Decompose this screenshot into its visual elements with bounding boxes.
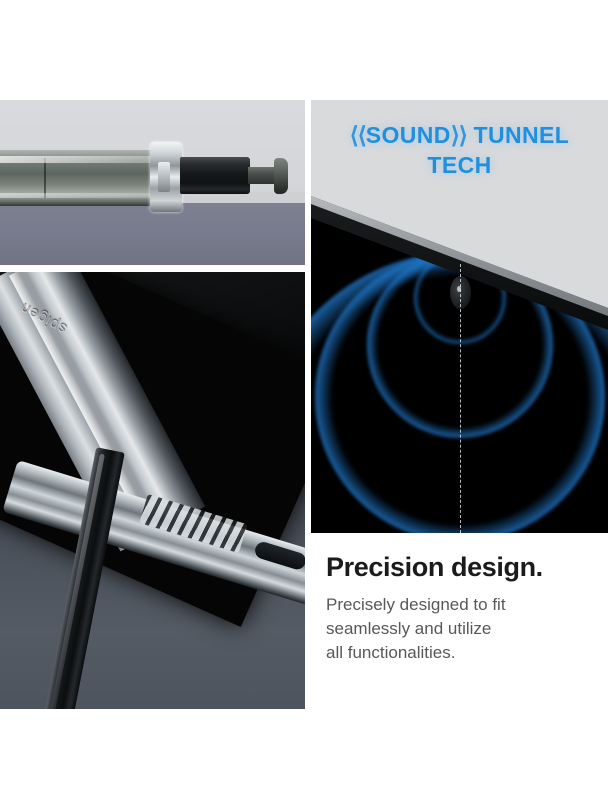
headline-line2: TECH [427, 152, 491, 178]
case-cutout-inner [158, 162, 170, 192]
s-pen-end-cap [274, 158, 288, 194]
sound-tunnel-stage [311, 190, 608, 533]
caption-title: Precision design. [326, 552, 596, 583]
sound-tunnel-headline: ⟨⟨SOUND⟩⟩ TUNNEL TECH [311, 120, 608, 181]
headline-word-sound: SOUND [366, 122, 451, 148]
center-alignment-dashed-line [460, 264, 461, 533]
sound-wave-mark-left: ⟨⟨ [350, 122, 366, 148]
sound-wave-mark-right: ⟩⟩ [451, 122, 467, 148]
headline-line1-rest: TUNNEL [467, 122, 569, 148]
caption-body: Precisely designed to fit seamlessly and… [326, 593, 596, 665]
surface-backdrop [0, 203, 305, 265]
s-pen-body [180, 157, 250, 194]
panel-sound-tunnel-diagram: ⟨⟨SOUND⟩⟩ TUNNEL TECH [311, 100, 608, 533]
case-highlight-bottom [0, 193, 172, 198]
product-feature-page: spigen ⟨⟨SOUND⟩⟩ TUNNEL TECH Precisio [0, 0, 608, 809]
caption-block: Precision design. Precisely designed to … [326, 552, 596, 665]
panel-s-pen-slot-close-up [0, 100, 305, 265]
caption-body-line-3: all functionalities. [326, 641, 596, 665]
caption-body-line-2: seamlessly and utilize [326, 617, 596, 641]
caption-body-line-1: Precisely designed to fit [326, 593, 596, 617]
left-image-column: spigen [0, 100, 305, 709]
panel-s-pen-insertion-hero: spigen [0, 272, 305, 709]
